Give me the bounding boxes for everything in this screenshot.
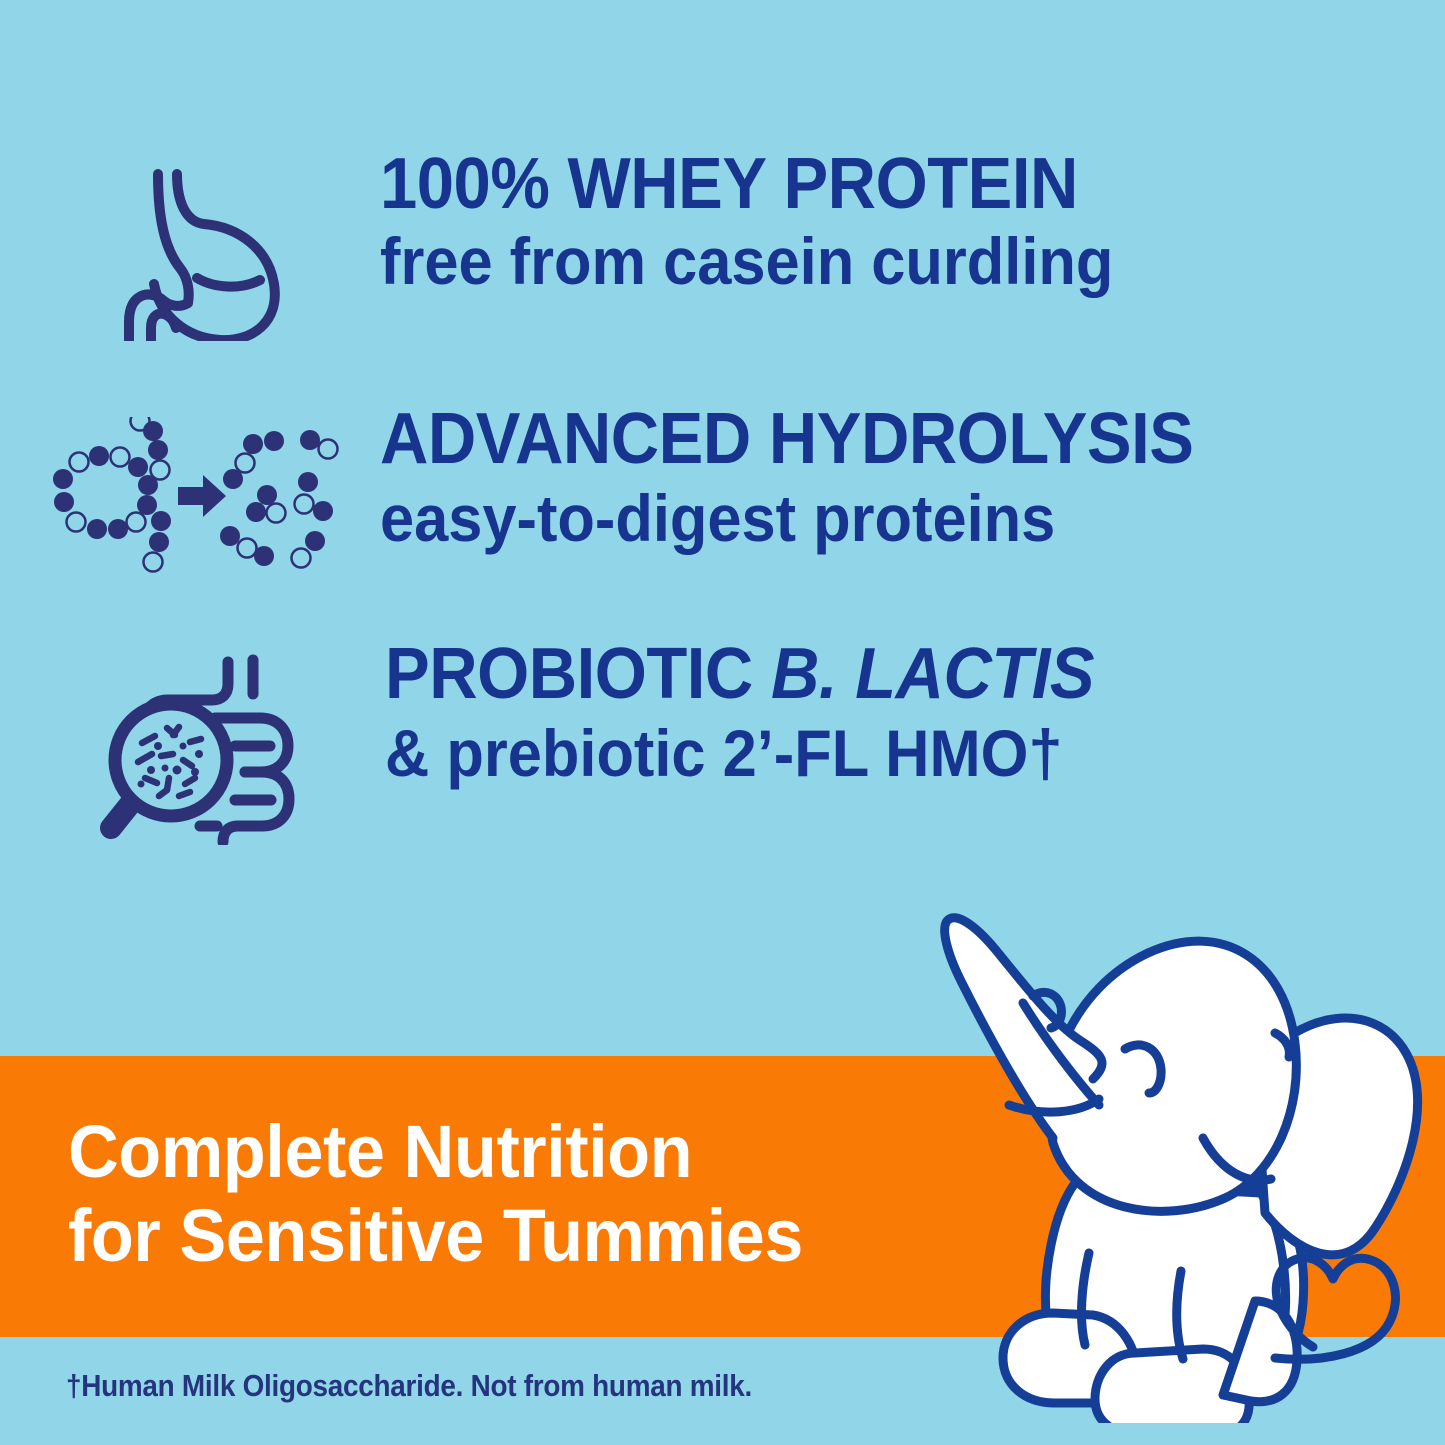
benefit-row-whey-protein: 100% WHEY PROTEIN free from casein curdl… [120, 150, 1380, 341]
benefit-headline-whey-protein: 100% WHEY PROTEIN [380, 150, 1310, 218]
benefit-row-probiotic: PROBIOTIC B. LACTIS & prebiotic 2’-FL HM… [95, 640, 1415, 845]
banner-headline-line2: for Sensitive Tummies [68, 1194, 803, 1278]
molecule-hydrolysis-icon [40, 417, 340, 577]
magnifier-intestine-icon [95, 650, 320, 845]
benefit-subline-whey-protein: free from casein curdling [380, 228, 1310, 294]
benefit-text-advanced-hydrolysis: ADVANCED HYDROLYSIS easy-to-digest prote… [380, 405, 1400, 551]
banner-headline-line1: Complete Nutrition [68, 1110, 803, 1194]
benefit-headline-advanced-hydrolysis: ADVANCED HYDROLYSIS [380, 405, 1329, 473]
benefit-text-probiotic: PROBIOTIC B. LACTIS & prebiotic 2’-FL HM… [385, 640, 1415, 786]
footnote-text: †Human Milk Oligosaccharide. Not from hu… [66, 1368, 752, 1404]
banner-headline: Complete Nutrition for Sensitive Tummies [68, 1110, 803, 1277]
benefit-headline-probiotic-italic: B. LACTIS [771, 634, 1094, 714]
benefit-text-whey-protein: 100% WHEY PROTEIN free from casein curdl… [380, 150, 1380, 294]
benefits-panel: 100% WHEY PROTEIN free from casein curdl… [0, 0, 1445, 1445]
stomach-icon [120, 156, 310, 341]
benefit-subline-probiotic: & prebiotic 2’-FL HMO† [385, 720, 1343, 786]
benefit-subline-advanced-hydrolysis: easy-to-digest proteins [380, 485, 1329, 551]
benefit-headline-probiotic-regular: PROBIOTIC [385, 634, 771, 714]
benefit-row-advanced-hydrolysis: ADVANCED HYDROLYSIS easy-to-digest prote… [40, 405, 1400, 577]
baby-elephant-illustration [903, 883, 1445, 1423]
benefit-headline-probiotic: PROBIOTIC B. LACTIS [385, 640, 1343, 708]
